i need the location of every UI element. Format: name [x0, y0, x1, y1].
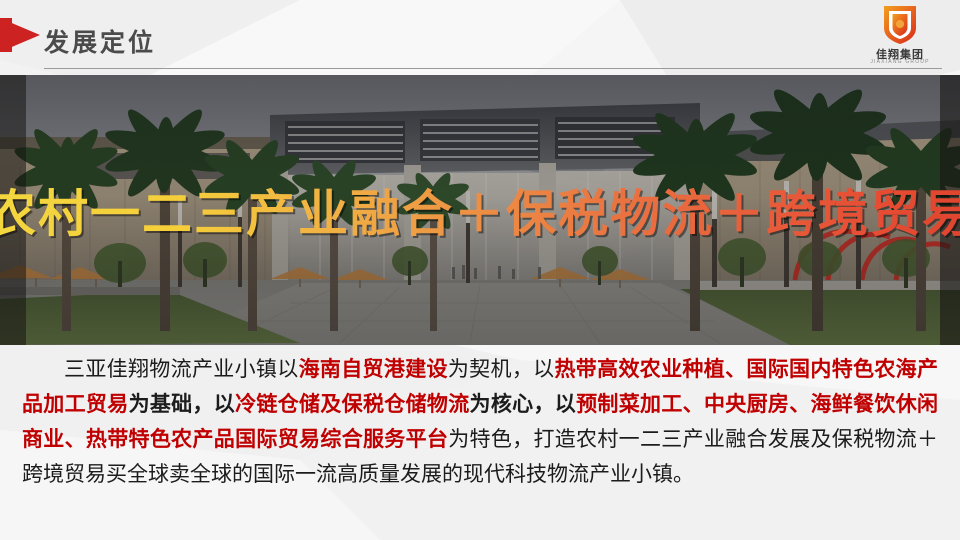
header-divider	[44, 68, 942, 69]
hero-headline: 农村一二三产业融合＋保税物流＋跨境贸易	[0, 75, 960, 345]
paragraph-segment-0: 三亚佳翔物流产业小镇以	[64, 357, 299, 381]
paragraph-segment-4: 为基础，以	[129, 392, 236, 416]
paragraph-segment-2: 为契机，以	[448, 357, 555, 381]
hero-image: 农村一二三产业融合＋保税物流＋跨境贸易 农村一二三产业融合＋保税物流＋跨境贸易	[0, 75, 960, 345]
paragraph-segment-5: 冷链仓储及保税仓储物流	[235, 392, 469, 416]
paragraph-segment-1: 海南自贸港建设	[299, 357, 448, 381]
slide-header: 发展定位	[0, 0, 960, 75]
paragraph-segment-6: 为核心，以	[470, 392, 577, 416]
page-title: 发展定位	[44, 23, 156, 59]
body-text-block: 三亚佳翔物流产业小镇以海南自贸港建设为契机，以热带高效农业种植、国际国内特色农海…	[0, 352, 960, 522]
description-paragraph: 三亚佳翔物流产业小镇以海南自贸港建设为契机，以热带高效农业种植、国际国内特色农海…	[22, 352, 938, 492]
slide-root: 发展定位 佳翔集团 JIAXIANG GROUP	[0, 0, 960, 540]
header-arrow-icon	[0, 18, 40, 52]
